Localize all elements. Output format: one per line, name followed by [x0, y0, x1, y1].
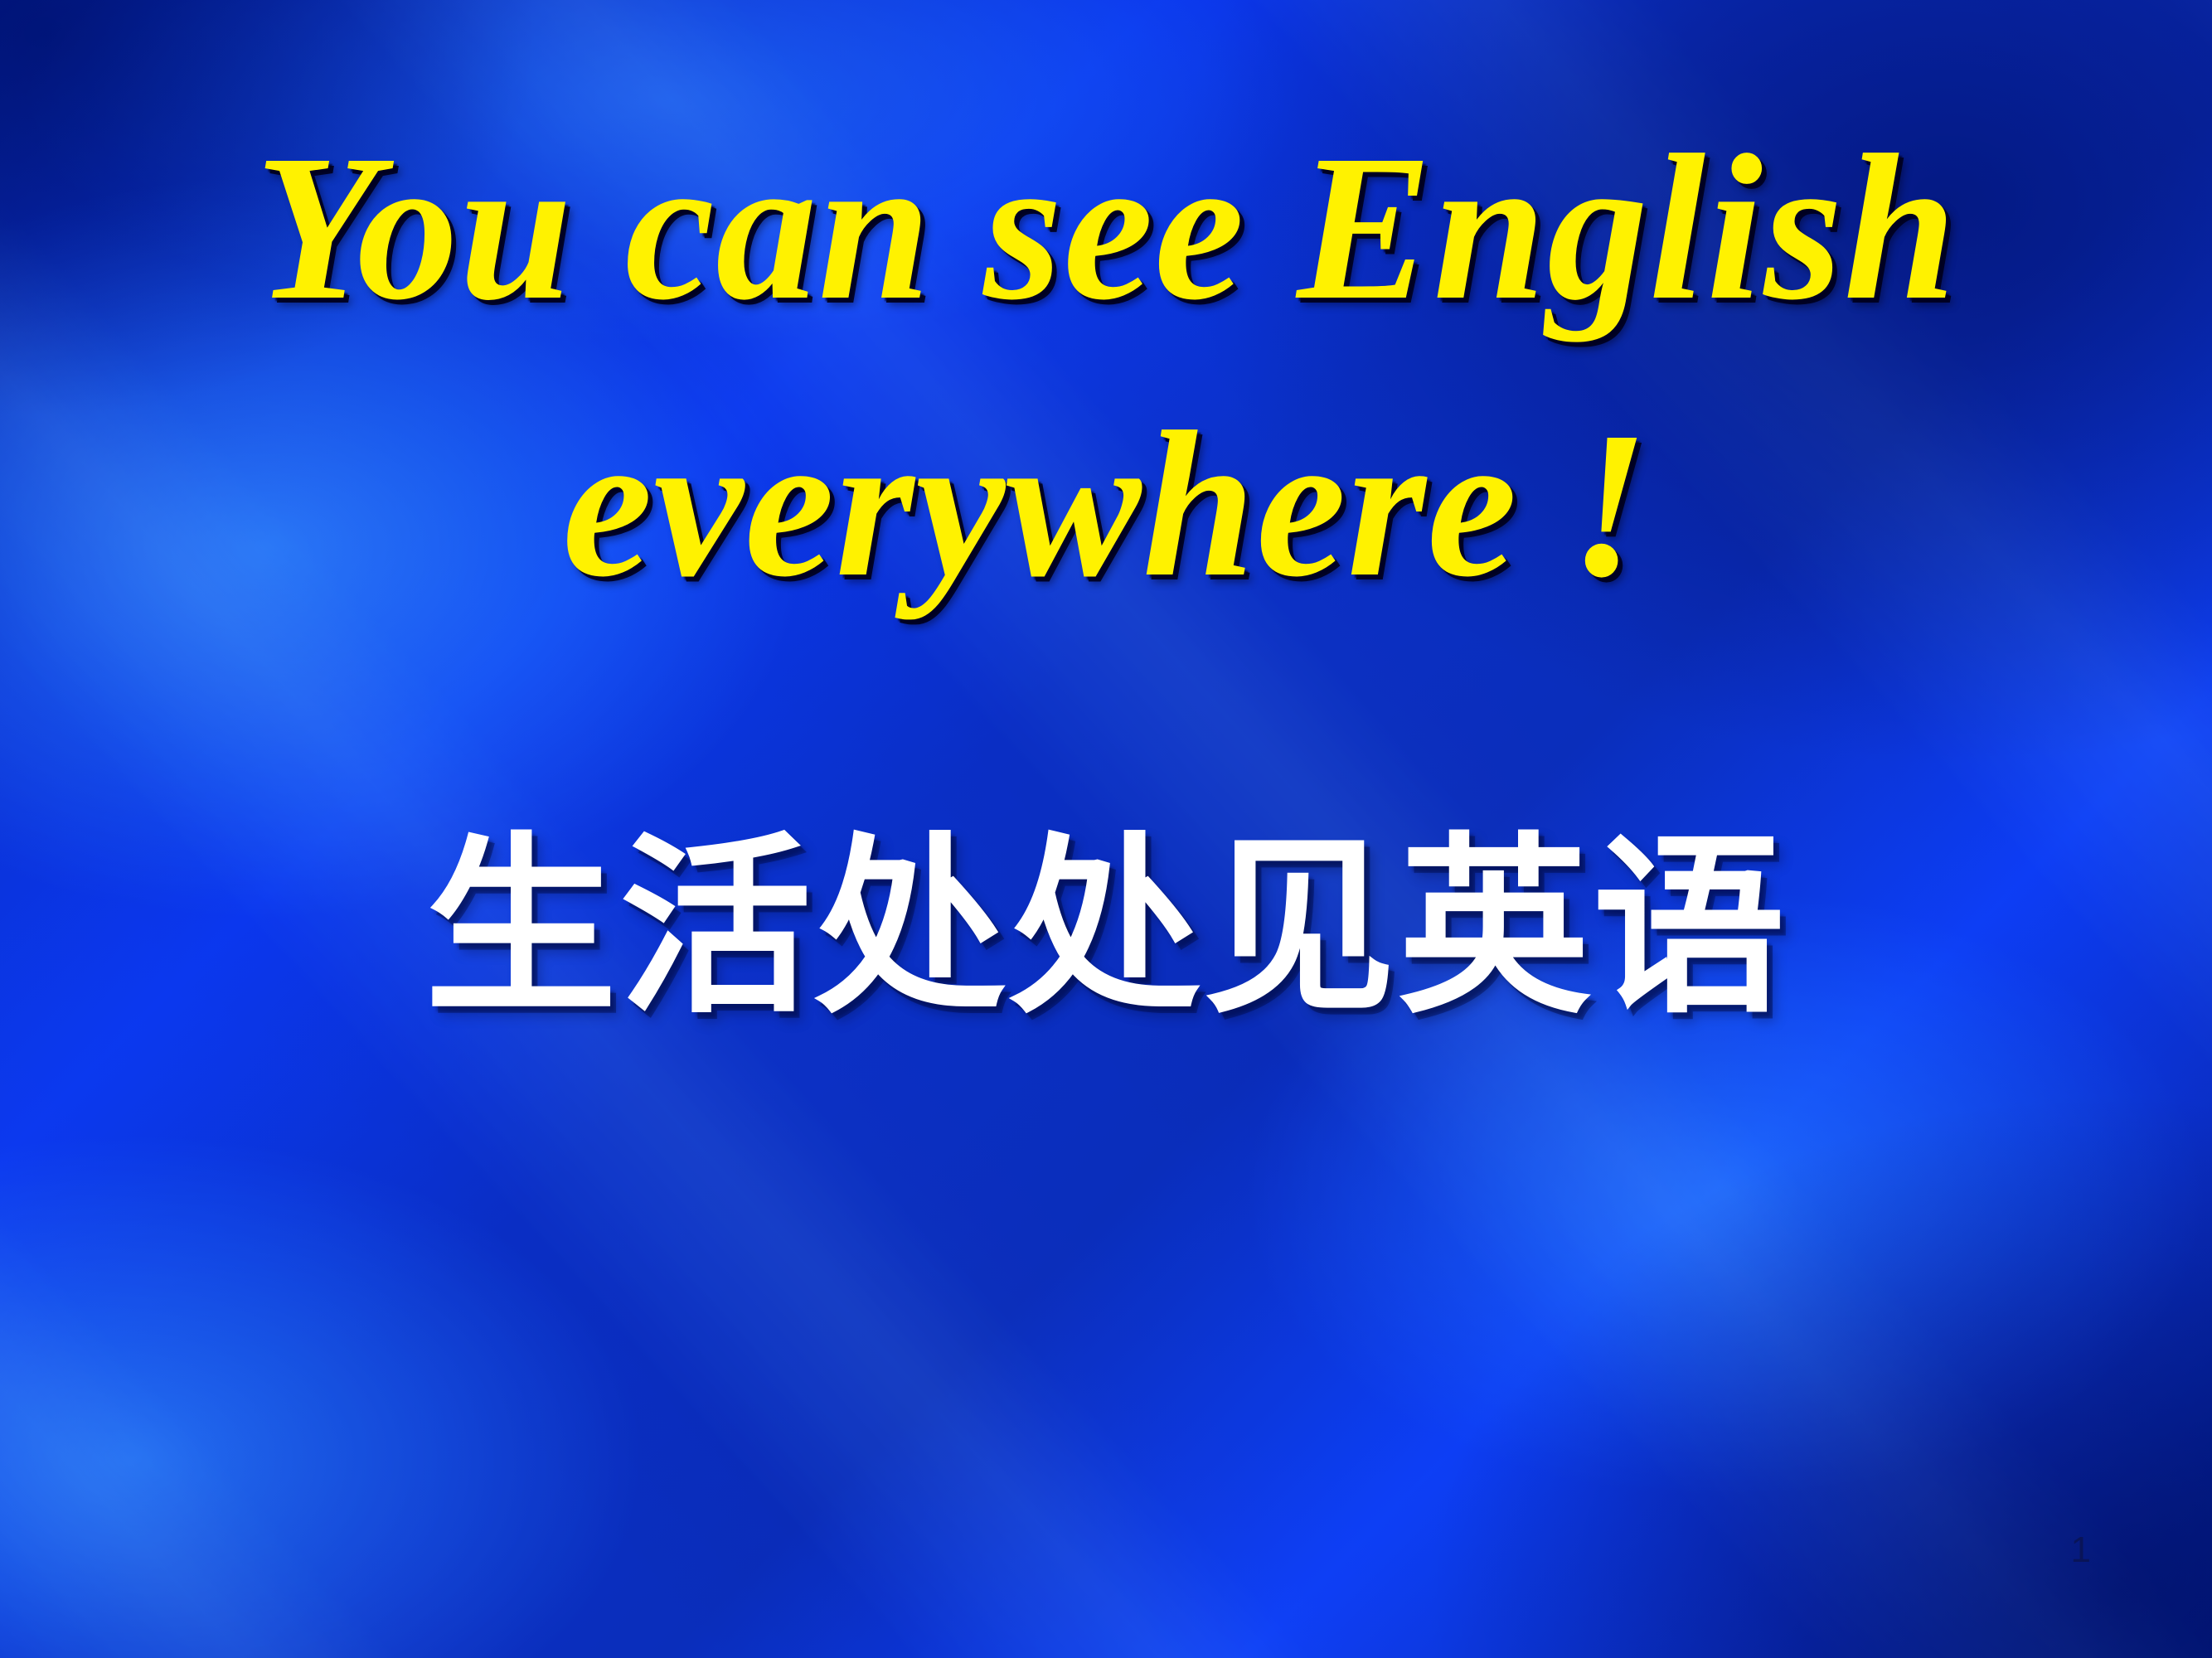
presentation-slide: You can see English everywhere ! 生活处处见英语… — [0, 0, 2212, 1658]
slide-subtitle: 生活处处见英语 — [0, 821, 2212, 1036]
subtitle-line-1: 生活处处见英语 — [0, 821, 2212, 1036]
title-line-1: You can see English — [33, 114, 2179, 340]
slide-number: 1 — [2071, 1532, 2091, 1568]
slide-title: You can see English everywhere ! — [0, 114, 2212, 611]
slide-content: You can see English everywhere ! 生活处处见英语… — [0, 0, 2212, 1658]
title-line-2: everywhere ! — [33, 398, 2179, 611]
